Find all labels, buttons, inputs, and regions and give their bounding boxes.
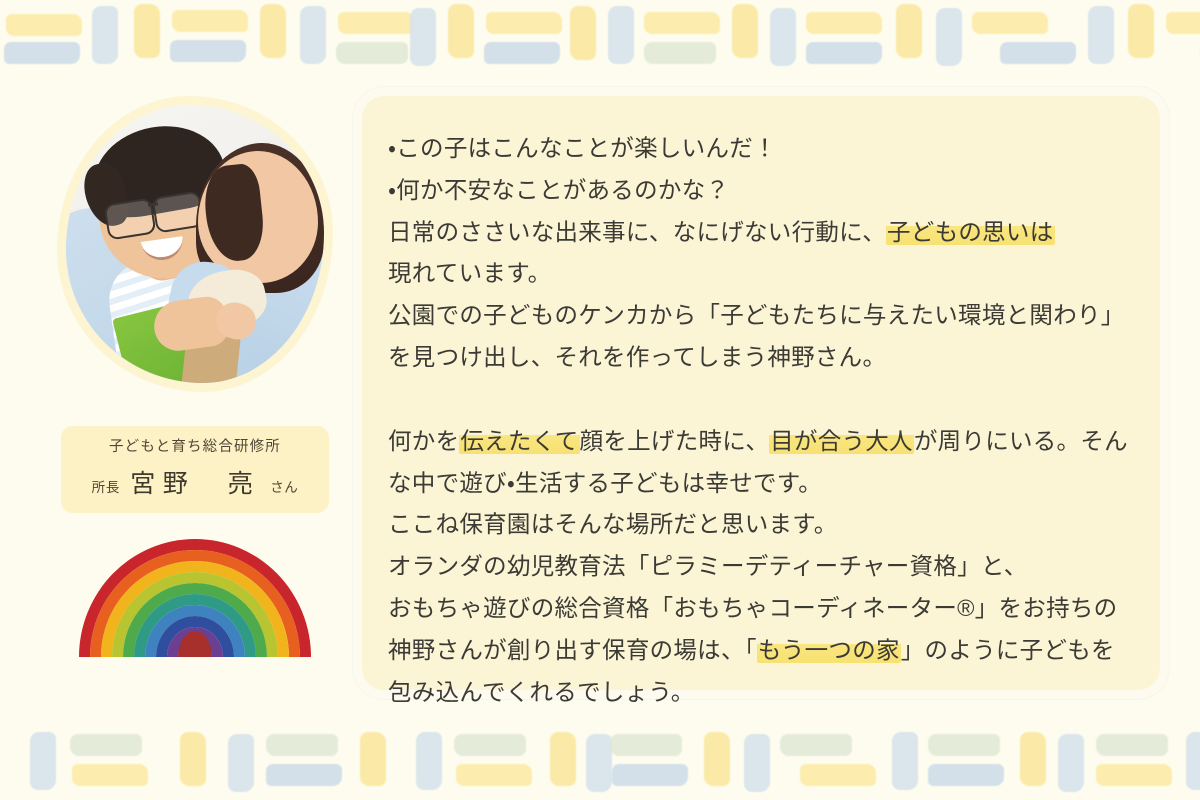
brush-stroke-blue <box>4 42 80 64</box>
brush-stroke-yellow <box>1020 732 1046 786</box>
brush-pattern-unit <box>600 0 800 80</box>
brush-stroke-blue <box>806 42 882 64</box>
brush-stroke-green <box>610 734 682 756</box>
message-body: ・この子はこんなことが楽しいんだ！ ・何か不安なことがあるのかな？ 日常のささい… <box>388 128 1136 714</box>
brush-stroke-green <box>928 734 1000 756</box>
brush-stroke-yellow <box>486 12 562 34</box>
brush-stroke-yellow <box>260 4 286 58</box>
person-honorific: さん <box>270 476 298 496</box>
brush-stroke-yellow <box>644 12 720 34</box>
brush-stroke-yellow <box>570 6 596 60</box>
decorative-border-top <box>0 0 1200 80</box>
brush-stroke-green <box>336 42 408 64</box>
brush-pattern-track <box>0 0 1200 80</box>
message-text-run: 現れています。 公園での子どものケンカから「子どもたちに与えたい環境と関わり」を… <box>388 260 1125 370</box>
brush-stroke-blue <box>744 734 770 792</box>
brush-stroke-blue <box>1088 6 1114 64</box>
message-text-run: 顔を上げた時に、 <box>580 428 770 454</box>
person-name: 宮野 亮 <box>130 464 260 500</box>
brush-stroke-blue <box>484 42 560 64</box>
brush-stroke-green <box>266 734 338 756</box>
brush-pattern-track <box>0 720 1200 800</box>
highlighted-phrase: 子どもの思いは <box>886 219 1054 245</box>
message-paragraph: 何かを伝えたくて顔を上げた時に、目が合う大人が周りにいる。そんな中で遊び・生活す… <box>388 421 1136 714</box>
brush-stroke-blue <box>612 764 688 786</box>
brush-stroke-yellow <box>704 732 730 786</box>
brush-stroke-green <box>70 734 142 756</box>
brush-stroke-yellow <box>1166 12 1200 34</box>
brush-stroke-blue <box>1058 734 1084 792</box>
brush-stroke-blue <box>1000 42 1076 64</box>
brush-pattern-unit <box>800 720 1000 800</box>
brush-pattern-unit <box>800 0 1000 80</box>
rainbow-stacker-toy <box>79 539 311 657</box>
brush-stroke-blue <box>892 732 918 790</box>
brush-stroke-green <box>1096 734 1168 756</box>
brush-pattern-unit <box>400 0 600 80</box>
brush-stroke-yellow <box>180 732 206 786</box>
brush-pattern-unit <box>1000 0 1200 80</box>
brush-stroke-yellow <box>360 732 386 786</box>
brush-pattern-unit <box>200 0 400 80</box>
brush-stroke-yellow <box>896 4 922 58</box>
brush-stroke-yellow <box>732 4 758 58</box>
brush-stroke-yellow <box>72 764 148 786</box>
message-text-run: が周りにいる。そんな中で遊び・生活する子どもは幸せです。 ここね保育園はそんな場… <box>388 428 1128 663</box>
brush-stroke-blue <box>586 734 612 792</box>
brush-stroke-yellow <box>448 4 474 58</box>
brush-stroke-yellow <box>550 732 576 786</box>
brush-stroke-blue <box>1186 732 1200 790</box>
profile-photo <box>57 96 333 392</box>
brush-stroke-blue <box>30 732 56 790</box>
brush-pattern-unit <box>400 720 600 800</box>
brush-stroke-yellow <box>806 12 882 34</box>
brush-stroke-blue <box>170 40 246 62</box>
brush-stroke-blue <box>266 764 342 786</box>
brush-stroke-blue <box>608 6 634 64</box>
brush-pattern-unit <box>0 720 200 800</box>
brush-stroke-yellow <box>1096 764 1172 786</box>
brush-stroke-green <box>454 734 526 756</box>
brush-stroke-blue <box>928 764 1004 786</box>
brush-stroke-yellow <box>456 764 532 786</box>
brush-pattern-unit <box>0 0 200 80</box>
organization-name: 子どもと育ち総合研修所 <box>69 437 321 457</box>
brush-stroke-blue <box>936 8 962 66</box>
brush-stroke-yellow <box>172 10 248 32</box>
brush-stroke-yellow <box>1128 4 1154 58</box>
highlighted-phrase: もう一つの家 <box>757 637 901 663</box>
brush-stroke-yellow <box>800 764 876 786</box>
brush-stroke-green <box>780 734 852 756</box>
brush-stroke-yellow <box>338 12 414 34</box>
brush-stroke-blue <box>770 8 796 66</box>
page-root: 子どもと育ち総合研修所 所長 宮野 亮 さん ・この子はこんなことが楽しいんだ！… <box>0 0 1200 800</box>
highlighted-phrase: 目が合う大人 <box>769 428 914 454</box>
message-text-run: 何かを <box>388 428 459 454</box>
message-paragraph: ・この子はこんなことが楽しいんだ！ ・何か不安なことがあるのかな？ 日常のささい… <box>388 128 1136 379</box>
brush-stroke-yellow <box>972 12 1048 34</box>
person-name-row: 所長 宮野 亮 さん <box>69 464 321 500</box>
brush-stroke-blue <box>410 8 436 66</box>
brush-stroke-blue <box>92 6 118 64</box>
profile-caption-card: 子どもと育ち総合研修所 所長 宮野 亮 さん <box>61 426 329 513</box>
profile-column: 子どもと育ち総合研修所 所長 宮野 亮 さん <box>40 96 350 657</box>
brush-stroke-green <box>644 42 716 64</box>
message-panel: ・この子はこんなことが楽しいんだ！ ・何か不安なことがあるのかな？ 日常のささい… <box>362 96 1160 690</box>
message-panel-inner: ・この子はこんなことが楽しいんだ！ ・何か不安なことがあるのかな？ 日常のささい… <box>362 96 1160 714</box>
brush-stroke-yellow <box>134 4 160 58</box>
photo-blob <box>66 105 324 383</box>
message-text-run: ・この子はこんなことが楽しいんだ！ ・何か不安なことがあるのかな？ 日常のささい… <box>388 135 886 245</box>
decorative-border-bottom <box>0 720 1200 800</box>
person-role: 所長 <box>92 476 121 496</box>
brush-stroke-blue <box>228 734 254 792</box>
brush-stroke-blue <box>416 732 442 790</box>
brush-stroke-yellow <box>6 14 82 36</box>
brush-pattern-unit <box>200 720 400 800</box>
brush-pattern-unit <box>1000 720 1200 800</box>
brush-stroke-blue <box>300 6 326 64</box>
highlighted-phrase: 伝えたくて <box>459 428 579 454</box>
brush-pattern-unit <box>600 720 800 800</box>
